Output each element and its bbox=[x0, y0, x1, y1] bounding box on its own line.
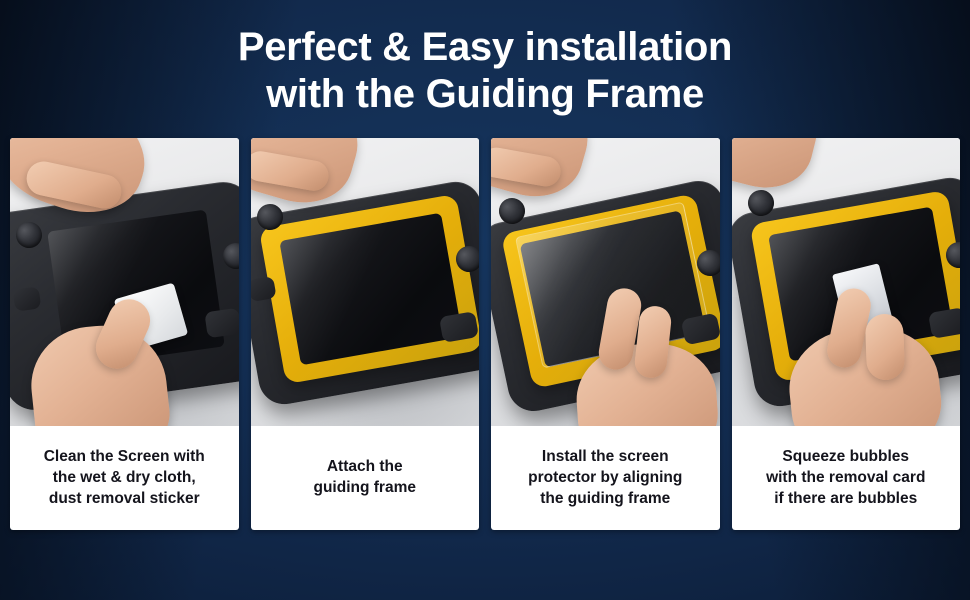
step-3-caption: Install the screen protector by aligning… bbox=[491, 426, 720, 530]
right-buttons bbox=[928, 307, 960, 339]
step-1-caption: Clean the Screen with the wet & dry clot… bbox=[10, 426, 239, 530]
steps-container: Clean the Screen with the wet & dry clot… bbox=[0, 138, 970, 530]
step-card-2: Attach the guiding frame bbox=[251, 138, 480, 530]
step-4-caption: Squeeze bubbles with the removal card if… bbox=[732, 426, 961, 530]
step-2-caption: Attach the guiding frame bbox=[251, 426, 480, 530]
step-4-photo bbox=[732, 138, 961, 426]
step-2-photo bbox=[251, 138, 480, 426]
step-card-1: Clean the Screen with the wet & dry clot… bbox=[10, 138, 239, 530]
right-buttons bbox=[204, 308, 238, 338]
headline-line-1: Perfect & Easy installation bbox=[0, 24, 970, 71]
step-1-photo bbox=[10, 138, 239, 426]
step-3-photo bbox=[491, 138, 720, 426]
step-card-3: Install the screen protector by aligning… bbox=[491, 138, 720, 530]
headline-line-2: with the Guiding Frame bbox=[0, 71, 970, 118]
squeezing-thumb bbox=[864, 314, 904, 381]
step-card-4: Squeeze bubbles with the removal card if… bbox=[732, 138, 961, 530]
page-title: Perfect & Easy installation with the Gui… bbox=[0, 0, 970, 118]
